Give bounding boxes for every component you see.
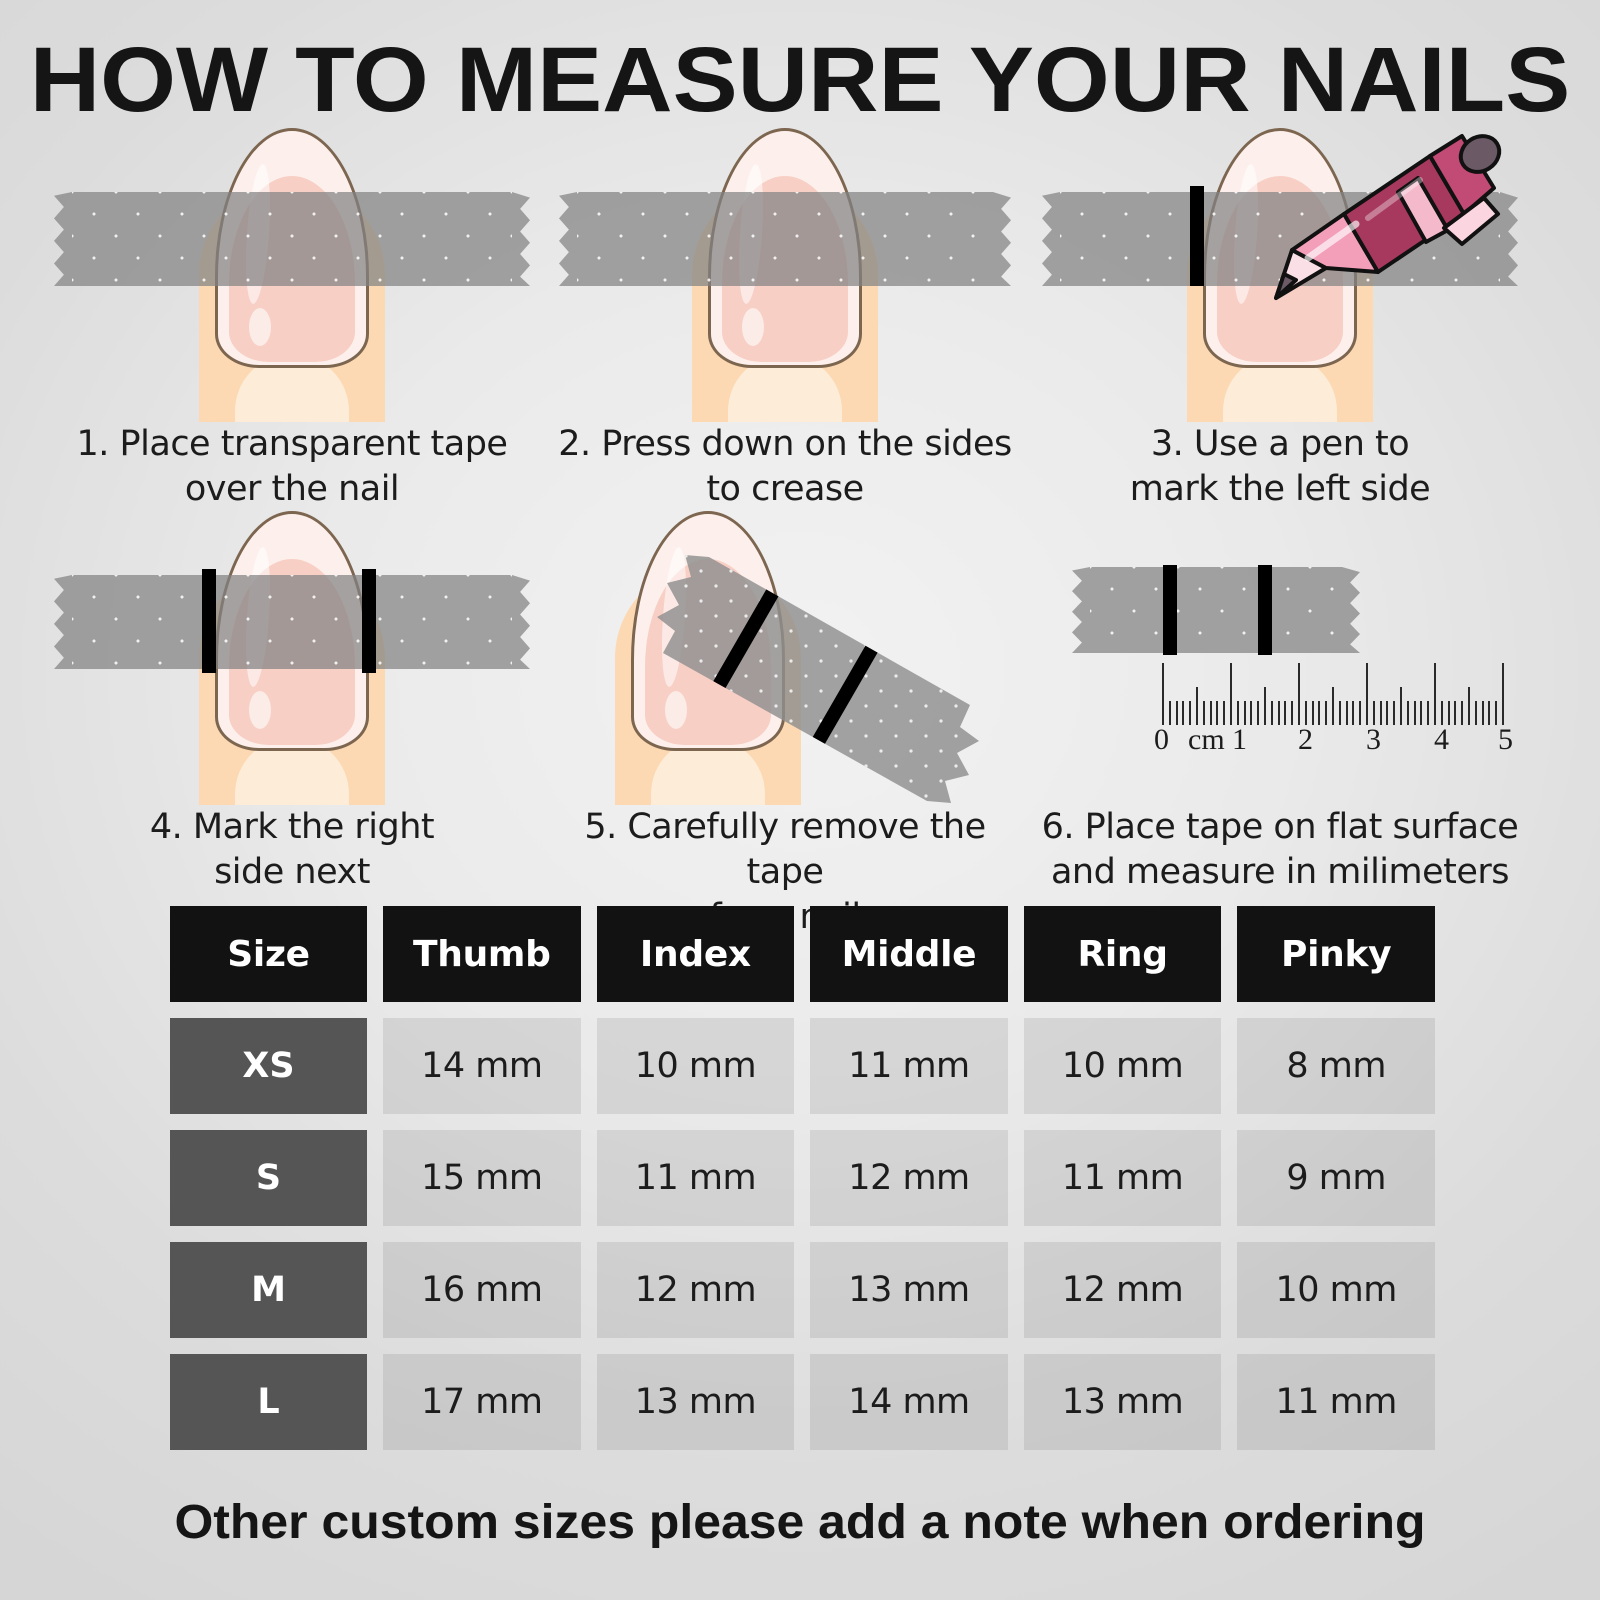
cell-s-thumb: 15 mm — [383, 1130, 581, 1226]
ruler-tick — [1203, 701, 1205, 725]
ruler-tick — [1176, 701, 1178, 725]
cell-xs-thumb: 14 mm — [383, 1018, 581, 1114]
step-4-caption-line2: side next — [52, 850, 532, 895]
ruler-tick — [1468, 687, 1470, 725]
size-label-s: S — [170, 1130, 367, 1226]
tape-strip — [72, 575, 512, 669]
ruler-tick — [1189, 701, 1191, 725]
cell-l-index: 13 mm — [597, 1354, 795, 1450]
pen-icon — [1248, 110, 1508, 310]
ruler-tick — [1420, 701, 1422, 725]
ruler-tick — [1366, 663, 1368, 725]
ruler-tick — [1393, 701, 1395, 725]
ruler-tick — [1332, 687, 1334, 725]
tape-zigzag-right-icon — [993, 192, 1011, 286]
cell-l-pinky: 11 mm — [1237, 1354, 1435, 1450]
ruler-label-4: 4 — [1434, 723, 1449, 757]
ruler-label-5: 5 — [1498, 723, 1513, 757]
ruler-tick — [1325, 701, 1327, 725]
step-4-illustration — [52, 505, 532, 805]
ruler-tick — [1216, 701, 1218, 725]
ruler-tick — [1386, 701, 1388, 725]
step-2-caption: 2. Press down on the sides to crease — [545, 422, 1025, 512]
ruler-tick — [1454, 701, 1456, 725]
step-3: 3. Use a pen to mark the left side — [1040, 122, 1520, 512]
step-5: 5. Carefully remove the tape from nail — [545, 505, 1025, 939]
ruler-tick — [1257, 701, 1259, 725]
ruler-tick — [1339, 701, 1341, 725]
cell-xs-index: 10 mm — [597, 1018, 795, 1114]
table-header-index: Index — [597, 906, 795, 1002]
step-2: 2. Press down on the sides to crease — [545, 122, 1025, 512]
ruler-tick — [1502, 663, 1504, 725]
size-chart-table: Size Thumb Index Middle Ring Pinky XS 14… — [170, 906, 1435, 1466]
ruler-tick — [1223, 701, 1225, 725]
tape-zigzag-left-icon — [54, 192, 72, 286]
cell-l-ring: 13 mm — [1024, 1354, 1222, 1450]
ruler-tick — [1162, 663, 1164, 725]
table-header-pinky: Pinky — [1237, 906, 1435, 1002]
table-row: L 17 mm 13 mm 14 mm 13 mm 11 mm — [170, 1354, 1435, 1450]
step-2-caption-line1: 2. Press down on the sides — [545, 422, 1025, 467]
cell-xs-ring: 10 mm — [1024, 1018, 1222, 1114]
ruler-label-3: 3 — [1366, 723, 1381, 757]
step-2-illustration — [545, 122, 1025, 422]
ruler-tick — [1441, 701, 1443, 725]
step-3-illustration — [1040, 122, 1520, 422]
step-1: 1. Place transparent tape over the nail — [52, 122, 532, 512]
ruler-tick — [1407, 701, 1409, 725]
tape-zigzag-right-icon — [1342, 567, 1360, 653]
ruler-tick — [1318, 701, 1320, 725]
ruler-tick — [1495, 701, 1497, 725]
pen-mark-right — [1258, 565, 1272, 655]
size-label-m: M — [170, 1242, 367, 1338]
step-6-illustration: 0 cm 1 2 3 4 5 — [1040, 505, 1520, 805]
ruler-tick — [1359, 701, 1361, 725]
tape-strip-peeled — [545, 505, 1025, 805]
ruler-label-1: 1 — [1232, 723, 1247, 757]
ruler-tick — [1284, 701, 1286, 725]
ruler-tick — [1182, 701, 1184, 725]
ruler-label-0: 0 — [1154, 723, 1169, 757]
ruler-tick — [1250, 701, 1252, 725]
ruler-label-2: 2 — [1298, 723, 1313, 757]
ruler-tick — [1196, 687, 1198, 725]
nail-shine-dot-icon — [249, 691, 271, 729]
ruler-tick — [1380, 701, 1382, 725]
step-1-caption: 1. Place transparent tape over the nail — [52, 422, 532, 512]
nail-shine-dot-icon — [742, 308, 764, 346]
step-6: 0 cm 1 2 3 4 5 6. Place tape on flat sur… — [1040, 505, 1520, 895]
ruler-tick — [1305, 701, 1307, 725]
table-header-size: Size — [170, 906, 367, 1002]
ruler-tick — [1271, 701, 1273, 725]
cell-s-middle: 12 mm — [810, 1130, 1008, 1226]
pen-mark-left — [1163, 565, 1177, 655]
pen-mark-right — [362, 569, 376, 673]
tape-zigzag-left-icon — [54, 575, 72, 669]
table-row: S 15 mm 11 mm 12 mm 11 mm 9 mm — [170, 1130, 1435, 1226]
size-label-l: L — [170, 1354, 367, 1450]
nail-shine-dot-icon — [249, 308, 271, 346]
pen-mark-left — [1190, 186, 1204, 286]
cell-s-ring: 11 mm — [1024, 1130, 1222, 1226]
ruler-tick — [1346, 701, 1348, 725]
cell-xs-pinky: 8 mm — [1237, 1018, 1435, 1114]
size-label-xs: XS — [170, 1018, 367, 1114]
tape-zigzag-left-icon — [1072, 567, 1090, 653]
ruler-tick — [1488, 701, 1490, 725]
cell-m-middle: 13 mm — [810, 1242, 1008, 1338]
ruler-tick — [1414, 701, 1416, 725]
ruler-tick — [1312, 701, 1314, 725]
ruler-tick — [1264, 687, 1266, 725]
table-header-ring: Ring — [1024, 906, 1222, 1002]
ruler-tick — [1482, 701, 1484, 725]
ruler-tick — [1475, 701, 1477, 725]
ruler-tick — [1298, 663, 1300, 725]
table-header-row: Size Thumb Index Middle Ring Pinky — [170, 906, 1435, 1002]
ruler-tick — [1291, 701, 1293, 725]
step-4-caption: 4. Mark the right side next — [52, 805, 532, 895]
tape-zigzag-right-icon — [512, 575, 530, 669]
cell-xs-middle: 11 mm — [810, 1018, 1008, 1114]
tape-zigzag-left-icon — [559, 192, 577, 286]
step-1-caption-line1: 1. Place transparent tape — [52, 422, 532, 467]
cell-s-pinky: 9 mm — [1237, 1130, 1435, 1226]
step-6-caption-line1: 6. Place tape on flat surface — [1020, 805, 1540, 850]
step-4: 4. Mark the right side next — [52, 505, 532, 895]
ruler-tick — [1244, 701, 1246, 725]
table-header-thumb: Thumb — [383, 906, 581, 1002]
step-3-caption: 3. Use a pen to mark the left side — [1040, 422, 1520, 512]
table-row: M 16 mm 12 mm 13 mm 12 mm 10 mm — [170, 1242, 1435, 1338]
step-1-illustration — [52, 122, 532, 422]
infographic-page: HOW TO MEASURE YOUR NAILS 1. Place trans… — [0, 0, 1600, 1600]
pen-mark-left — [202, 569, 216, 673]
cell-m-thumb: 16 mm — [383, 1242, 581, 1338]
ruler-tick — [1278, 701, 1280, 725]
tape-strip-flat — [1090, 567, 1342, 653]
cell-m-ring: 12 mm — [1024, 1242, 1222, 1338]
ruler-tick — [1169, 701, 1171, 725]
step-5-illustration — [545, 505, 1025, 805]
ruler-tick — [1373, 701, 1375, 725]
step-4-caption-line1: 4. Mark the right — [52, 805, 532, 850]
cell-l-thumb: 17 mm — [383, 1354, 581, 1450]
cell-l-middle: 14 mm — [810, 1354, 1008, 1450]
ruler-tick — [1434, 663, 1436, 725]
step-3-caption-line1: 3. Use a pen to — [1040, 422, 1520, 467]
ruler-tick — [1352, 701, 1354, 725]
step-6-caption-line2: and measure in milimeters — [1020, 850, 1540, 895]
tape-zigzag-right-icon — [512, 192, 530, 286]
cell-m-pinky: 10 mm — [1237, 1242, 1435, 1338]
tape-zigzag-left-icon — [1042, 192, 1060, 286]
ruler-unit-label: cm — [1188, 723, 1225, 757]
ruler — [1162, 655, 1502, 725]
footer-note: Other custom sizes please add a note whe… — [0, 1495, 1600, 1550]
ruler-tick — [1427, 701, 1429, 725]
step-5-caption-line1: 5. Carefully remove the tape — [545, 805, 1025, 895]
tape-strip-creased — [577, 192, 993, 286]
cell-m-index: 12 mm — [597, 1242, 795, 1338]
ruler-tick — [1461, 701, 1463, 725]
table-row: XS 14 mm 10 mm 11 mm 10 mm 8 mm — [170, 1018, 1435, 1114]
tape-strip — [72, 192, 512, 286]
cell-s-index: 11 mm — [597, 1130, 795, 1226]
table-header-middle: Middle — [810, 906, 1008, 1002]
ruler-tick — [1230, 663, 1232, 725]
ruler-tick — [1400, 687, 1402, 725]
ruler-tick — [1448, 701, 1450, 725]
ruler-tick — [1237, 701, 1239, 725]
ruler-tick — [1210, 701, 1212, 725]
step-6-caption: 6. Place tape on flat surface and measur… — [1020, 805, 1540, 895]
